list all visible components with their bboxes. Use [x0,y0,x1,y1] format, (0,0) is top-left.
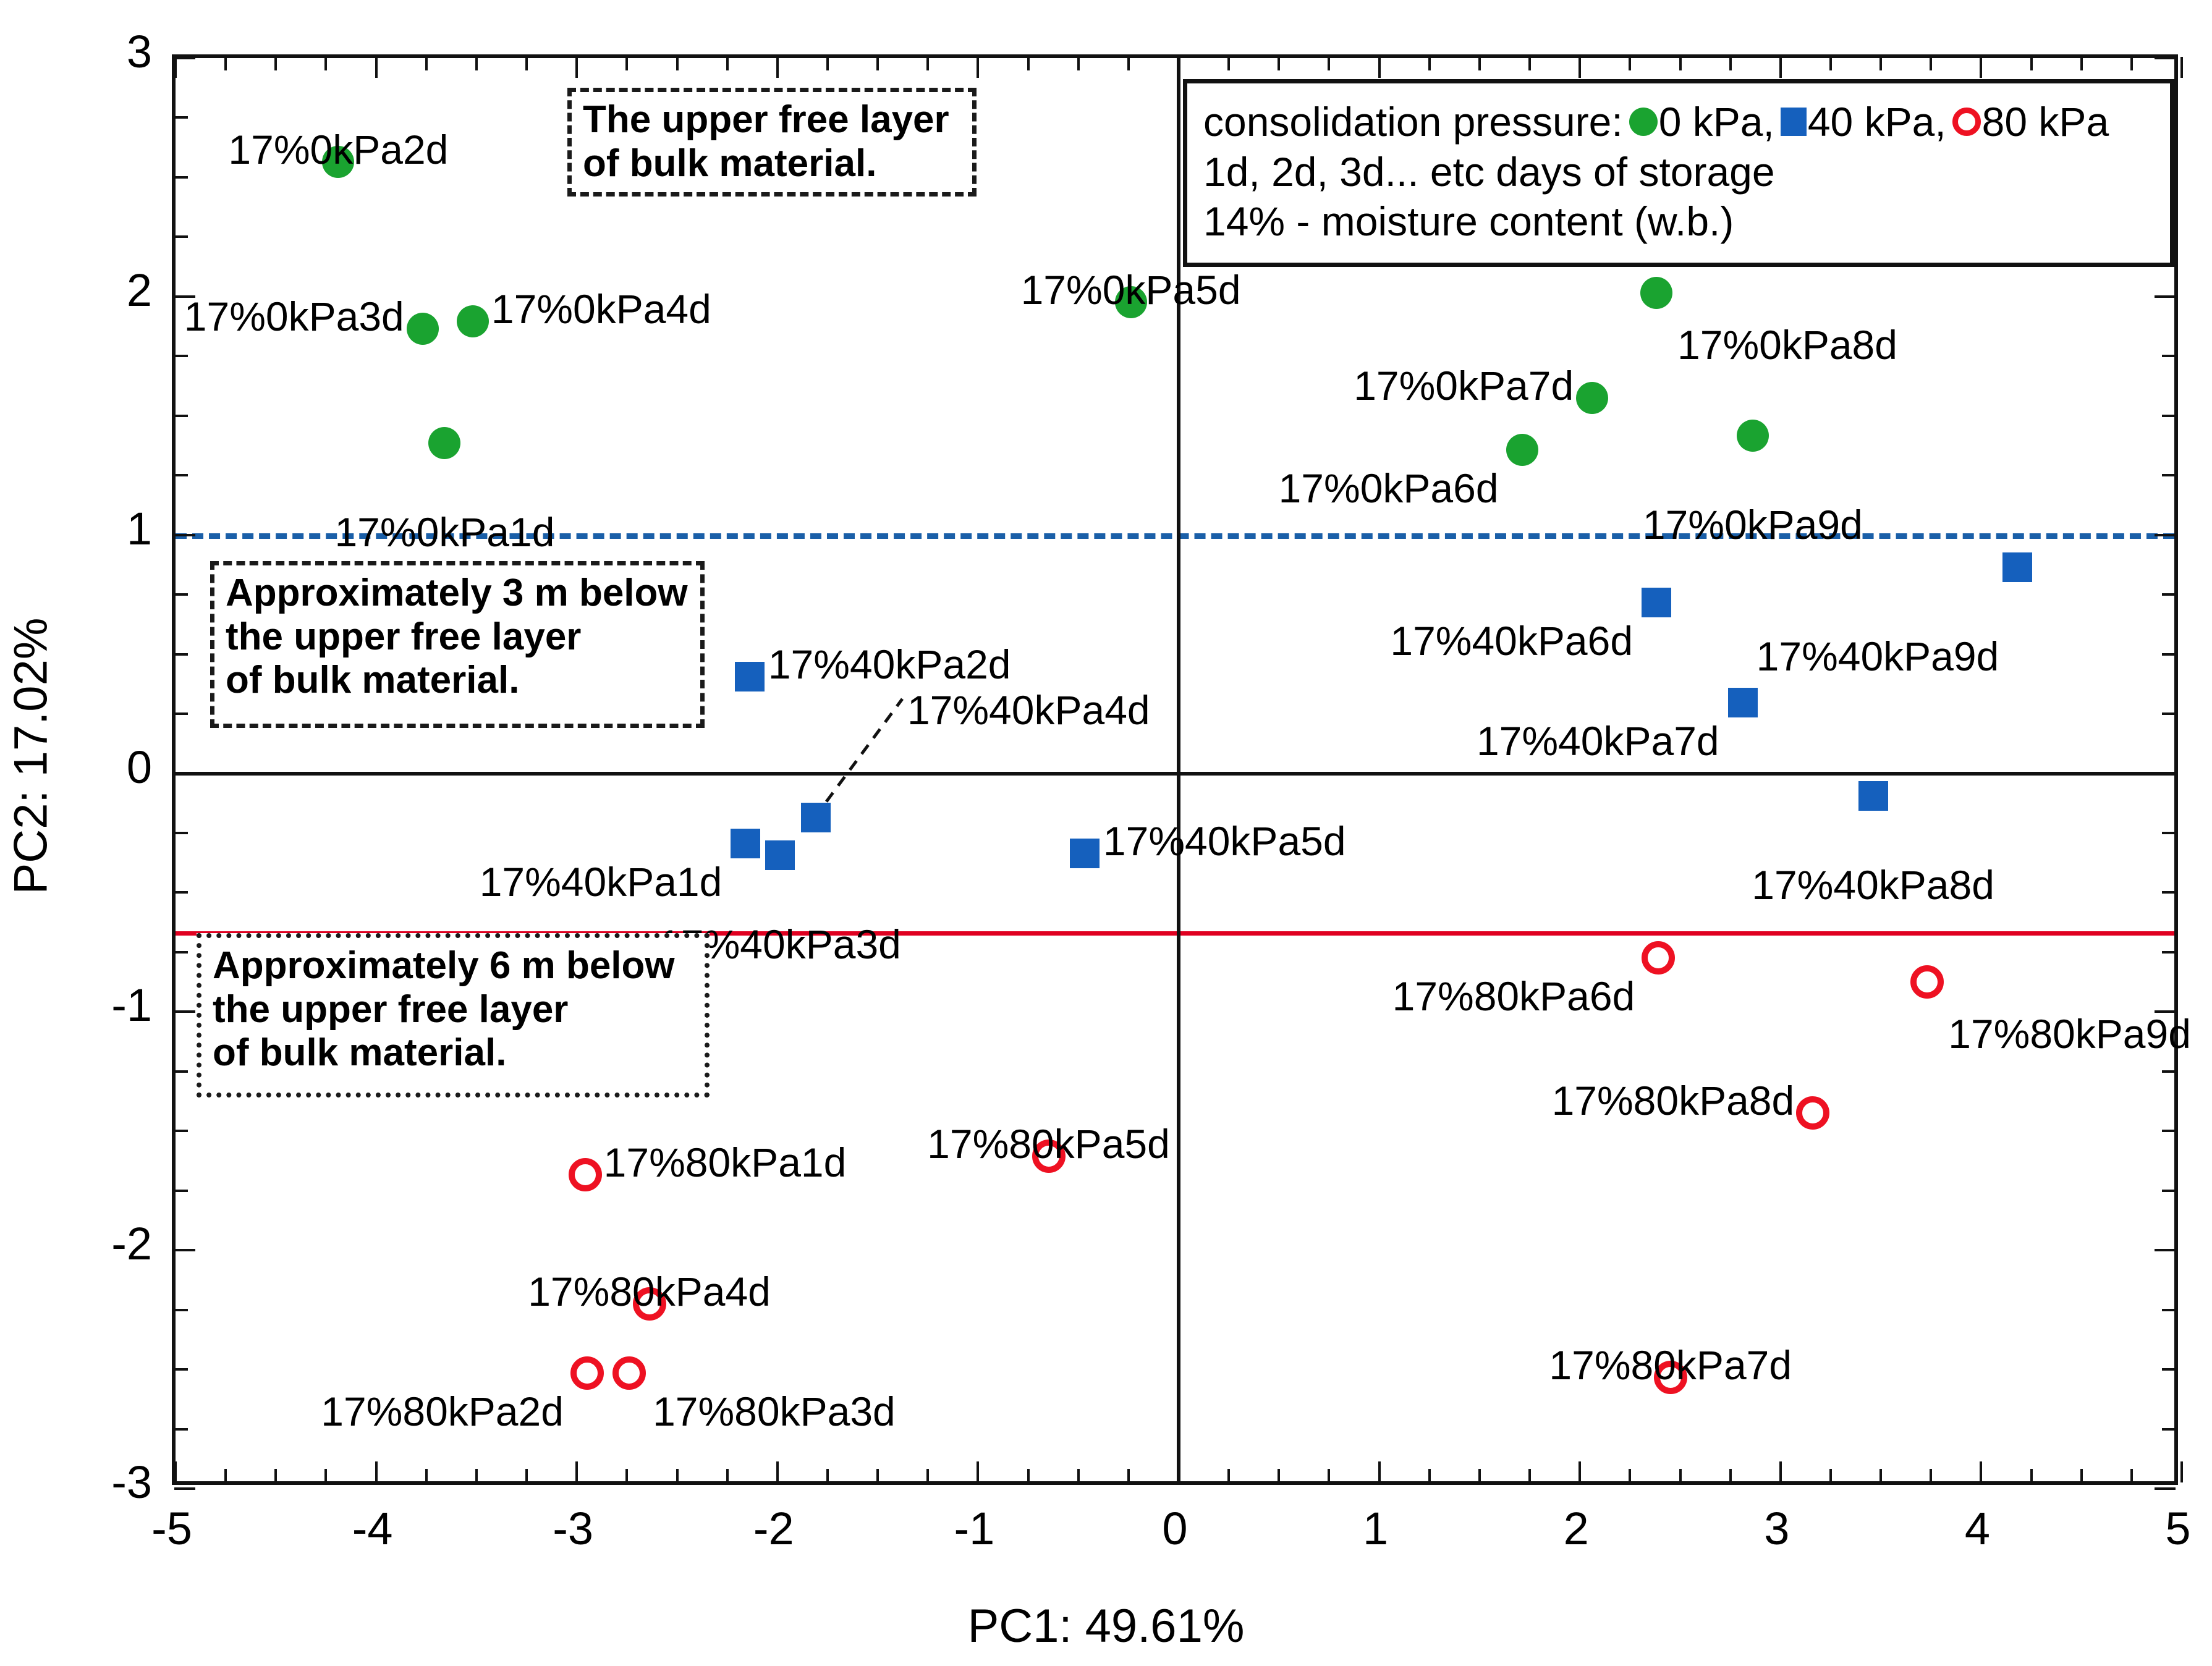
x-tick [676,1469,679,1482]
x-tick [1428,57,1431,70]
pca-scatter-figure: PC2: 17.02% PC1: 49.61% -5-4-3-2-1012345… [0,0,2212,1666]
y-tick [174,534,195,536]
data-point [731,829,760,858]
data-point [1576,382,1608,414]
x-tick [1027,1469,1030,1482]
x-tick [1428,1469,1431,1482]
data-point-label: 17%80kPa6d [1392,973,1635,1020]
y-tick [2162,355,2176,357]
data-point [801,803,831,832]
data-point-label: 17%80kPa4d [528,1268,771,1315]
x-tick [324,1469,327,1482]
x-tick [876,57,879,70]
x-tick [776,57,779,78]
y-tick-label: -2 [28,1217,152,1270]
x-tick [1127,1469,1130,1482]
y-tick [174,1368,188,1371]
x-tick [2130,57,2133,70]
y-tick [174,951,188,954]
data-point-label: 17%40kPa6d [1390,617,1633,664]
legend-box: consolidation pressure: 0 kPa, 40 kPa, 8… [1183,79,2174,267]
x-tick-label: 1 [1314,1502,1438,1555]
y-tick-label: 1 [28,502,152,555]
x-tick [1278,57,1280,70]
data-point [1640,277,1672,309]
y-tick [174,235,188,238]
data-point [570,1356,604,1390]
data-point [1642,588,1671,617]
x-tick-label: -3 [511,1502,635,1555]
x-tick-label: 4 [1915,1502,2039,1555]
y-tick [174,1428,188,1431]
x-tick [375,1461,378,1482]
x-tick [826,57,829,70]
x-tick-label: -4 [311,1502,434,1555]
x-tick [375,57,378,78]
annotation-line: the upper free layer [226,615,690,659]
x-tick [1177,1461,1180,1482]
annotation-line: The upper free layer [583,98,962,142]
data-point [1642,941,1675,975]
x-tick [1629,57,1631,70]
data-point-label: 17%0kPa5d [1021,266,1241,313]
y-tick [174,1190,188,1192]
data-point-label: 17%40kPa8d [1752,861,1994,908]
x-tick [977,1461,979,1482]
y-tick-label: 0 [28,741,152,793]
y-tick [174,1010,195,1013]
x-tick [475,1469,478,1482]
data-point-label: 17%40kPa4d [907,687,1150,734]
y-tick [2162,415,2176,417]
data-point [1728,688,1758,717]
y-tick-label: -3 [28,1456,152,1508]
x-tick [1729,1469,1732,1482]
y-tick [174,832,188,834]
x-tick-label: -5 [110,1502,234,1555]
data-point [735,662,765,691]
x-tick [1578,57,1581,78]
legend-80kpa-label: 80 kPa [1982,97,2109,147]
data-point [1070,839,1100,868]
x-tick [224,57,227,70]
annotation-line: of bulk material. [213,1031,695,1075]
data-point-label: 17%80kPa1d [604,1139,847,1186]
x-tick [1227,1469,1230,1482]
x-tick [1328,57,1330,70]
data-point [428,427,460,459]
x-tick [1980,57,1982,78]
annotation-line: of bulk material. [226,659,690,703]
x-tick [1378,1461,1381,1482]
x-tick [625,1469,628,1482]
y-tick [2155,1487,2176,1490]
pc2-zero-axis [176,772,2174,776]
legend-days-label: 1d, 2d, 3d... etc days of storage [1203,147,1775,197]
x-tick [475,57,478,70]
x-tick [1779,1461,1782,1482]
x-tick [174,57,177,78]
x-tick [1478,1469,1481,1482]
data-point [1858,781,1888,811]
x-tick [575,1461,578,1482]
x-tick [174,1461,177,1482]
y-tick [2162,653,2176,656]
legend-blue-square-icon [1781,108,1807,136]
x-tick [1528,57,1531,70]
y-tick [2162,593,2176,596]
data-point-label: 17%80kPa2d [321,1388,564,1435]
x-tick [525,57,528,70]
x-tick [1679,57,1682,70]
y-tick [2162,951,2176,954]
y-tick [174,176,188,179]
data-point-label: 17%0kPa3d [184,293,404,340]
x-tick [926,1469,929,1482]
x-tick [575,57,578,78]
data-point [612,1356,646,1390]
y-tick [174,1309,188,1311]
data-point [1737,420,1769,452]
x-axis-title: PC1: 49.61% [0,1599,2212,1653]
x-tick [625,57,628,70]
x-tick [1077,57,1080,70]
data-point-label: 17%80kPa8d [1552,1077,1795,1124]
y-tick [174,1487,195,1490]
x-tick [525,1469,528,1482]
legend-row-days: 1d, 2d, 3d... etc days of storage [1203,147,2158,197]
data-point-label: 17%80kPa3d [653,1388,896,1435]
x-tick [1077,1469,1080,1482]
data-point [1506,434,1538,466]
data-point-label: 17%0kPa9d [1643,501,1863,548]
x-tick [676,57,679,70]
x-tick [1278,1469,1280,1482]
x-tick [274,1469,277,1482]
data-point-label: 17%80kPa7d [1549,1342,1792,1389]
annotation-six-metres-below: Approximately 6 m belowthe upper free la… [197,933,710,1097]
annotation-line: Approximately 6 m below [213,944,695,988]
x-tick [1027,57,1030,70]
x-tick [1227,57,1230,70]
x-tick [876,1469,879,1482]
data-point-label: 17%40kPa1d [480,858,723,905]
x-tick [2180,57,2183,78]
y-tick [2155,534,2176,536]
x-tick [1980,1461,1982,1482]
x-tick [1578,1461,1581,1482]
x-tick [1729,57,1732,70]
x-tick [826,1469,829,1482]
x-tick-label: 3 [1715,1502,1839,1555]
x-tick [425,1469,428,1482]
x-tick [1679,1469,1682,1482]
y-tick [2162,1190,2176,1192]
legend-row-pressures: consolidation pressure: 0 kPa, 40 kPa, 8… [1203,97,2158,147]
data-point-label: 17%80kPa9d [1948,1010,2191,1057]
x-tick-label: 0 [1113,1502,1237,1555]
data-point [1796,1096,1829,1130]
x-tick [2080,1469,2083,1482]
y-tick [2162,1428,2176,1431]
y-tick [174,57,195,59]
x-tick [726,1469,729,1482]
x-tick [2030,1469,2033,1482]
legend-green-circle-icon [1629,108,1658,136]
legend-red-ring-icon [1952,108,1981,136]
y-tick [2162,1309,2176,1311]
y-tick [2162,712,2176,715]
data-point [569,1158,602,1191]
data-point [1910,965,1944,999]
x-tick [2030,57,2033,70]
x-tick [224,1469,227,1482]
legend-40kpa-label: 40 kPa, [1808,97,1946,147]
x-tick [1629,1469,1631,1482]
x-tick [425,57,428,70]
y-tick [2155,772,2176,775]
x-tick [2180,1461,2183,1482]
y-tick-label: 2 [28,264,152,316]
data-point-label: 17%40kPa5d [1103,818,1346,865]
y-tick-label: 3 [28,25,152,78]
legend-prefix-label: consolidation pressure: [1203,97,1623,147]
data-point-label: 17%0kPa4d [491,285,711,332]
y-tick [174,1130,188,1132]
x-tick [324,57,327,70]
x-tick-label: 2 [1514,1502,1638,1555]
y-tick [174,1249,195,1251]
x-tick [1879,57,1882,70]
y-tick [2162,1368,2176,1371]
data-point-label: 17%0kPa8d [1677,321,1897,368]
annotation-line: Approximately 3 m below [226,572,690,615]
data-point-label: 17%80kPa5d [927,1120,1170,1167]
data-point-label: 17%0kPa6d [1279,465,1499,512]
y-tick [174,474,188,476]
y-tick [174,116,188,119]
annotation-line: the upper free layer [213,988,695,1032]
x-tick [1879,1469,1882,1482]
data-point-label: 17%0kPa2d [228,126,448,173]
x-tick [1478,57,1481,70]
y-tick [174,653,188,656]
x-tick [2130,1469,2133,1482]
legend-moisture-label: 14% - moisture content (w.b.) [1203,197,1734,247]
y-tick [2162,832,2176,834]
legend-row-moisture: 14% - moisture content (w.b.) [1203,197,2158,247]
y-tick [174,415,188,417]
x-tick-label: -2 [712,1502,836,1555]
annotation-upper-free-layer: The upper free layerof bulk material. [567,88,977,197]
y-tick [174,1070,188,1073]
x-tick [1378,57,1381,78]
x-tick [726,57,729,70]
data-point-label: 17%0kPa7d [1354,362,1574,409]
data-point [407,313,439,345]
y-tick [2162,891,2176,894]
x-tick [1930,57,1932,70]
data-point [2002,552,2032,582]
y-tick [2155,57,2176,59]
x-tick-label: 5 [2116,1502,2212,1555]
annotation-line: of bulk material. [583,142,962,186]
y-tick [2155,295,2176,298]
y-tick [2162,474,2176,476]
x-tick [1177,57,1180,78]
y-tick [174,712,188,715]
x-tick [1829,1469,1832,1482]
x-tick [776,1461,779,1482]
x-tick-label: -1 [912,1502,1036,1555]
y-tick [2162,1070,2176,1073]
data-point-label: 17%40kPa2d [768,641,1011,688]
x-tick [977,57,979,78]
data-point-label: 17%0kPa1d [334,509,554,556]
x-tick [1779,57,1782,78]
x-tick [274,57,277,70]
data-point-label: 17%40kPa9d [1756,633,1999,680]
x-tick [1930,1469,1932,1482]
data-point-label: 17%40kPa7d [1477,717,1719,764]
y-tick [174,772,195,775]
legend-0kpa-label: 0 kPa, [1659,97,1774,147]
x-tick [1528,1469,1531,1482]
x-tick [1829,57,1832,70]
y-tick-label: -1 [28,979,152,1031]
data-point [765,840,795,870]
y-tick [2162,1130,2176,1132]
y-tick [174,891,188,894]
x-tick [1328,1469,1330,1482]
y-tick [2155,1249,2176,1251]
x-tick [926,57,929,70]
annotation-three-metres-below: Approximately 3 m belowthe upper free la… [210,561,705,728]
x-tick [1127,57,1130,70]
y-tick [174,355,188,357]
y-tick [174,593,188,596]
data-point [457,305,489,337]
x-tick [2080,57,2083,70]
